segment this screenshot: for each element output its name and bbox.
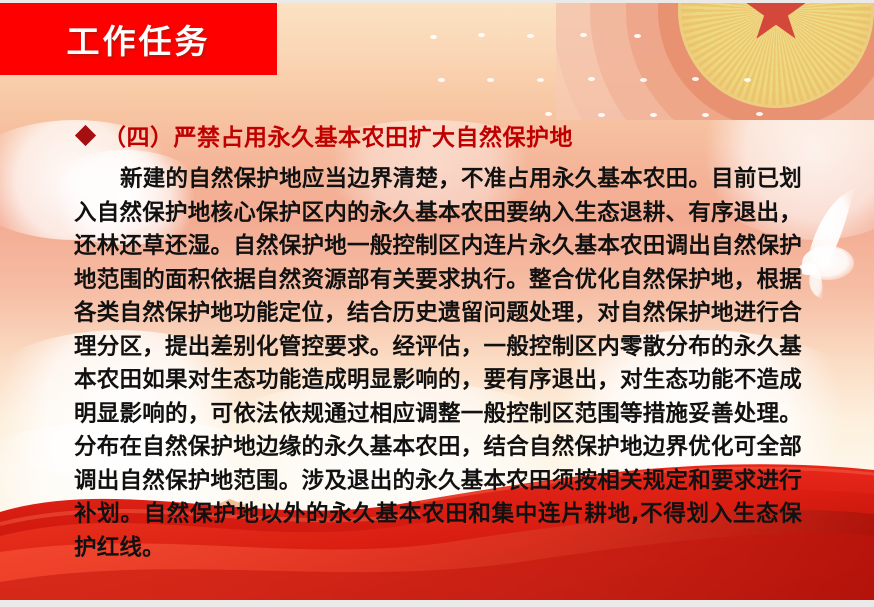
section-banner: 工作任务 <box>0 3 277 75</box>
section-heading: （四）严禁占用永久基本农田扩大自然保护地 <box>78 118 573 152</box>
banner-title: 工作任务 <box>67 15 211 63</box>
presentation-slide: 工作任务 （四）严禁占用永久基本农田扩大自然保护地 新建的自然保护地应当边界清楚… <box>0 0 874 607</box>
body-paragraph: 新建的自然保护地应当边界清楚，不准占用永久基本农田。目前已划入自然保护地核心保护… <box>74 163 802 565</box>
section-heading-text: （四）严禁占用永久基本农田扩大自然保护地 <box>103 118 573 152</box>
diamond-bullet-icon <box>75 124 96 145</box>
